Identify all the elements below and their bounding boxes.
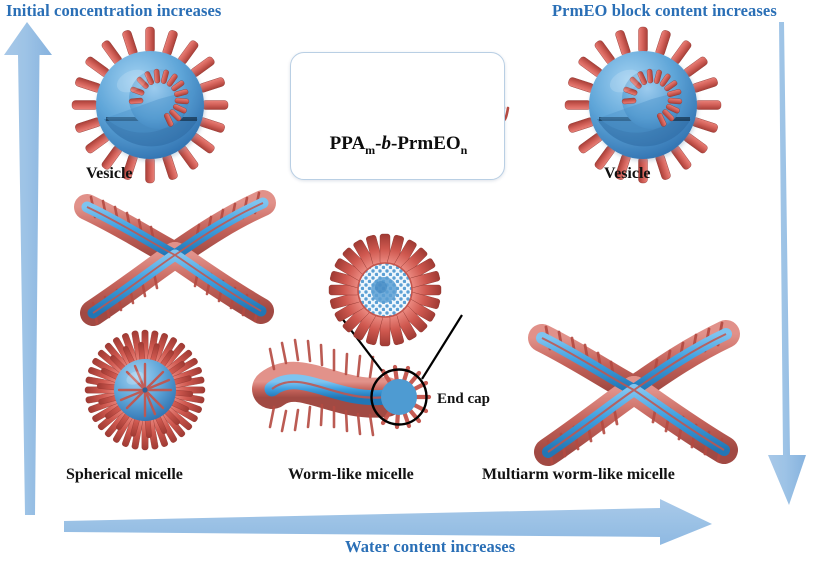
cross-section-inset-graphic: [329, 234, 441, 346]
multiarm-left-arms: [87, 193, 263, 323]
figure-canvas: Initial concentration increases PrmEO bl…: [0, 0, 821, 561]
formula-ppa: PPA: [330, 133, 366, 154]
caption-vesicle-left: Vesicle: [86, 165, 133, 183]
caption-spherical-micelle: Spherical micelle: [66, 466, 183, 484]
initial-concentration-arrow: [4, 22, 52, 515]
spherical-micelle-graphic: [85, 330, 205, 450]
polymer-legend-box: PPAm-b-PrmEOn: [290, 52, 505, 180]
vesicle-right-graphic: [565, 27, 721, 183]
prmeo-block-content-label: PrmEO block content increases: [552, 1, 777, 21]
caption-multiarm-worm-like-micelle: Multiarm worm-like micelle: [482, 466, 675, 484]
annotation-end-cap: End cap: [437, 391, 490, 408]
formula-sub-m: m: [365, 143, 375, 157]
caption-vesicle-right: Vesicle: [604, 165, 651, 183]
initial-concentration-label: Initial concentration increases: [6, 1, 221, 21]
polymer-formula: PPAm-b-PrmEOn: [291, 133, 506, 158]
multiarm-right-graphic: [542, 323, 726, 463]
vesicle-left-graphic: [72, 27, 228, 183]
prmeo-block-content-arrow: [768, 22, 806, 505]
water-content-label: Water content increases: [345, 537, 515, 557]
formula-italic-b: b: [382, 133, 392, 154]
multiarm-right-arms: [542, 323, 726, 463]
formula-prmeo: PrmEO: [397, 133, 460, 154]
end-cap-core: [381, 379, 417, 415]
caption-worm-like-micelle: Worm-like micelle: [288, 466, 414, 484]
multiarm-left-graphic: [87, 193, 263, 323]
formula-sub-n: n: [461, 143, 468, 157]
